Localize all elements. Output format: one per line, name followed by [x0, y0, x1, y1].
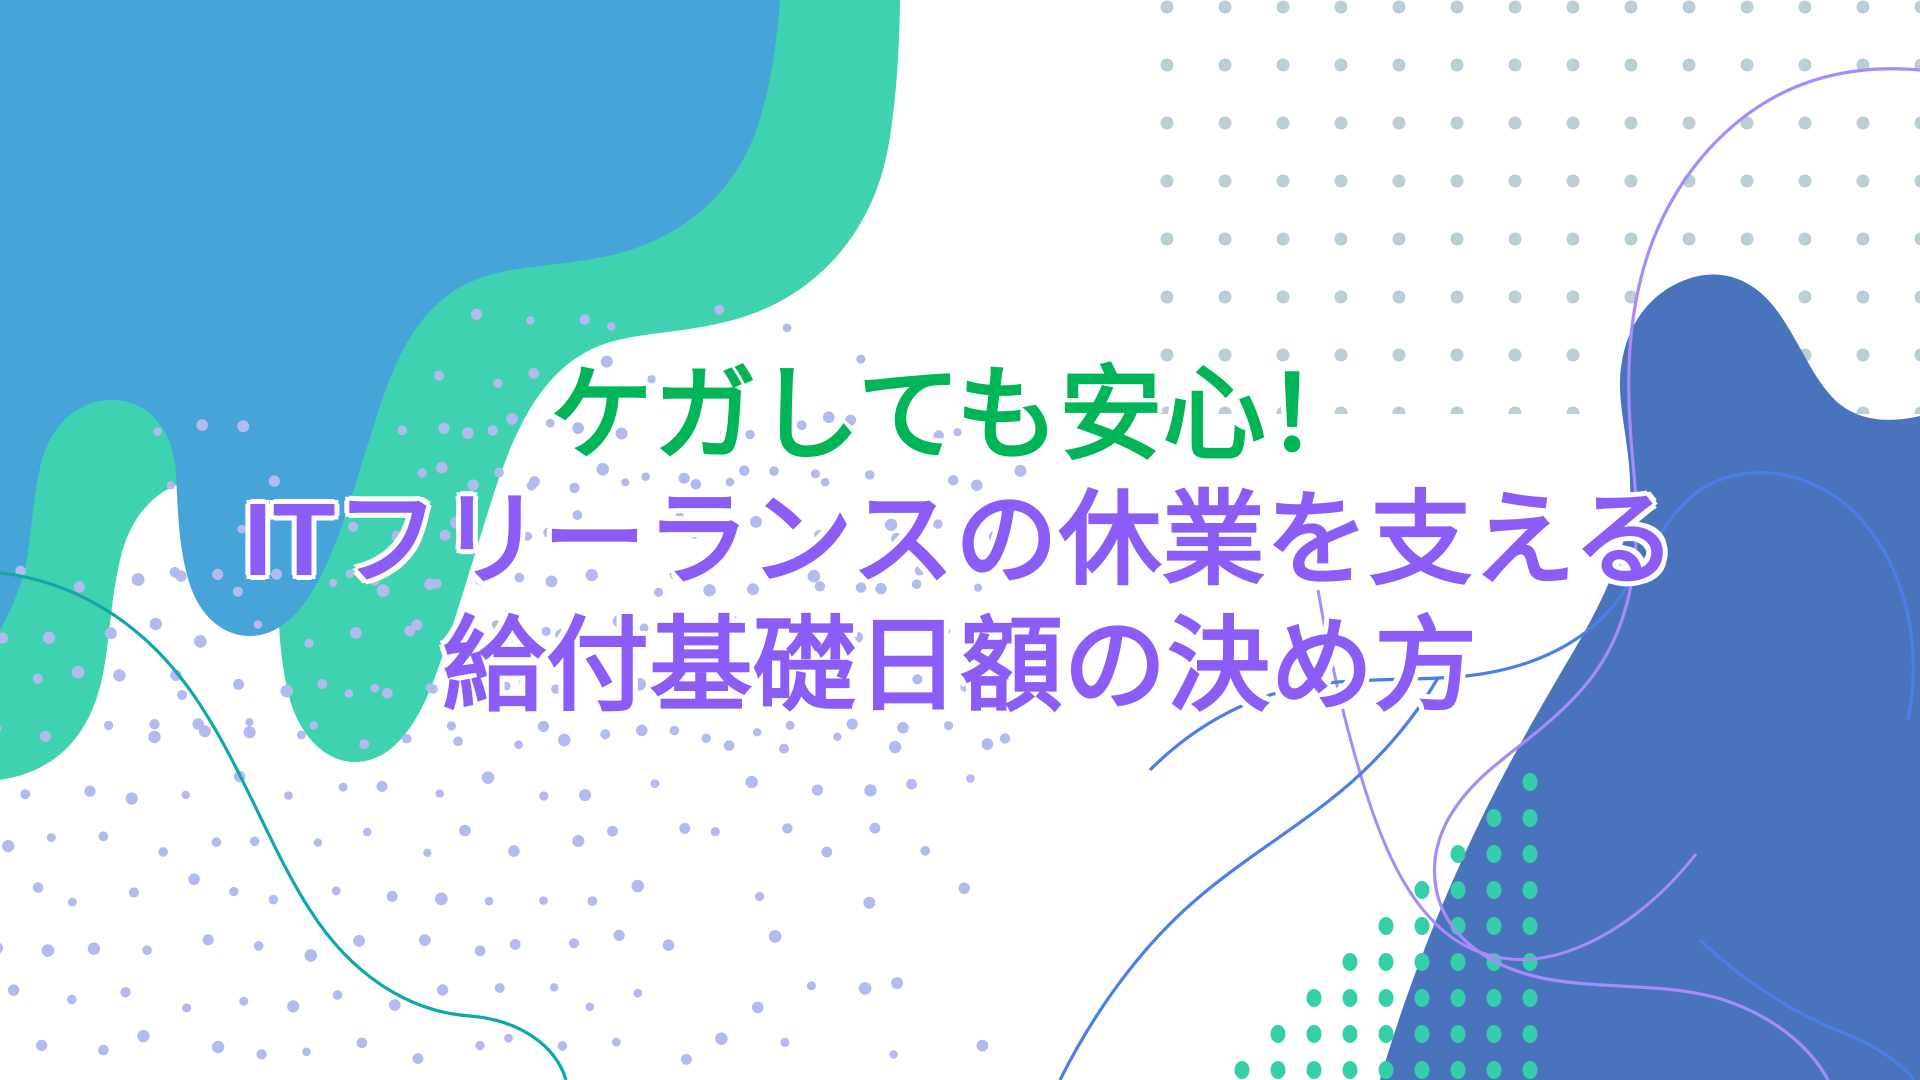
title-line-3: 給付基礎日額の決め方: [442, 606, 1477, 725]
title-line-2: ITフリーランスの休業を支える: [243, 480, 1676, 599]
title-line-1: ケガしても安心！: [550, 355, 1370, 474]
title-block: ケガしても安心！ ITフリーランスの休業を支える 給付基礎日額の決め方: [0, 0, 1920, 1080]
hero-banner: ケガしても安心！ ITフリーランスの休業を支える 給付基礎日額の決め方: [0, 0, 1920, 1080]
